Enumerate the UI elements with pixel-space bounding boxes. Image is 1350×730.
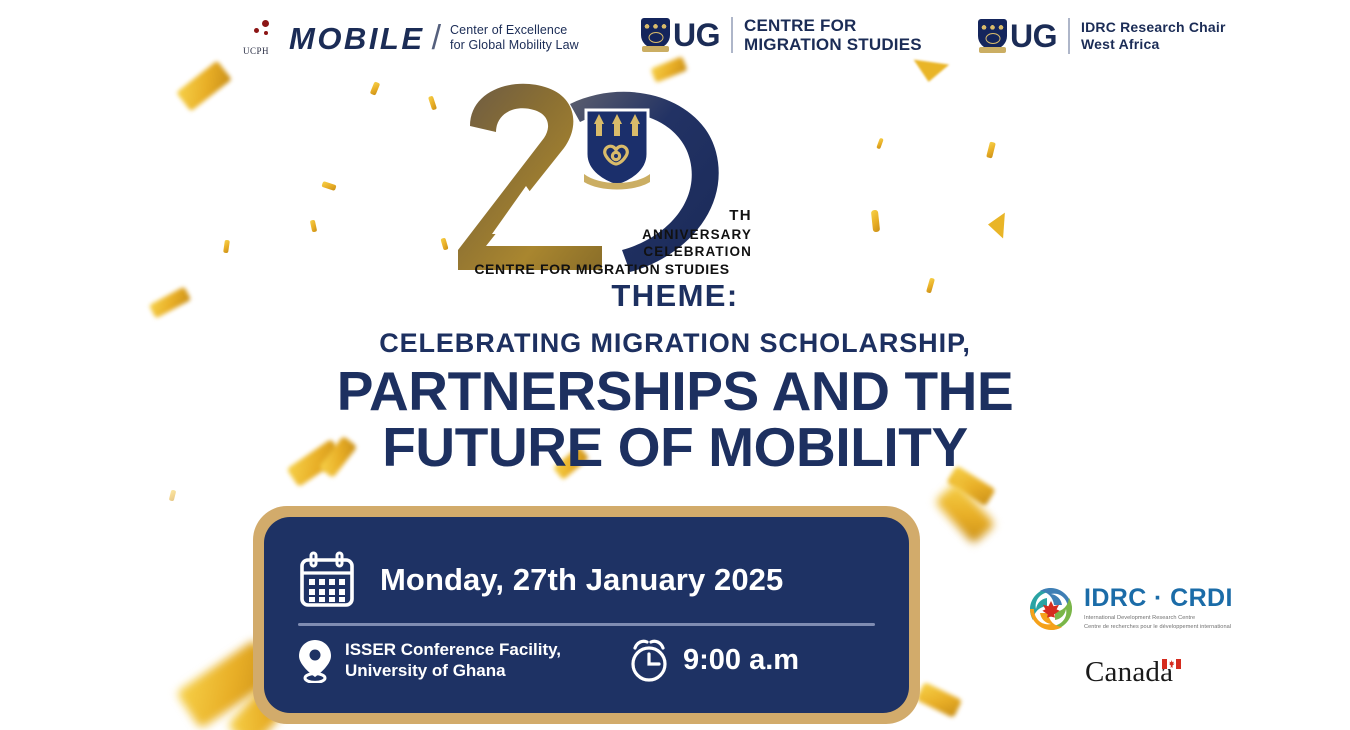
idrc-chair-name-line1: IDRC Research Chair — [1081, 19, 1226, 36]
idrc-logo-row: IDRC · CRDI International Development Re… — [1028, 586, 1233, 632]
anniversary-caption: TH ANNIVERSARY CELEBRATION CENTRE FOR MI… — [452, 206, 752, 279]
ug-crest-icon — [580, 106, 654, 190]
confetti-piece — [871, 210, 880, 233]
confetti-piece — [310, 220, 317, 233]
celebration-word: CELEBRATION — [452, 243, 752, 260]
cms-name-line1: CENTRE FOR — [744, 16, 922, 35]
event-date: Monday, 27th January 2025 — [380, 562, 783, 598]
logo-separator: / — [432, 21, 441, 55]
confetti-piece — [321, 181, 336, 191]
mobile-tagline-line2: for Global Mobility Law — [450, 38, 579, 53]
confetti-piece — [934, 481, 995, 544]
mobile-tagline: Center of Excellence for Global Mobility… — [450, 23, 579, 54]
anniversary-lockup: TH ANNIVERSARY CELEBRATION CENTRE FOR MI… — [452, 74, 752, 279]
idrc-tagline-fr: Centre de recherches pour le développeme… — [1084, 623, 1233, 632]
theme-section: THEME: CELEBRATING MIGRATION SCHOLARSHIP… — [0, 280, 1350, 475]
ucph-abbr: UCPH — [243, 46, 269, 56]
date-row: Monday, 27th January 2025 — [298, 551, 875, 621]
event-time: 9:00 a.m — [683, 644, 799, 677]
idrc-name: IDRC · CRDI — [1084, 586, 1233, 611]
venue-block: ISSER Conference Facility, University of… — [298, 639, 628, 683]
confetti-piece — [986, 142, 996, 159]
theme-kicker: THEME: — [0, 280, 1350, 311]
ug-wordmark: UG — [673, 19, 720, 51]
theme-line-2: PARTNERSHIPS AND THE — [0, 363, 1350, 419]
logo-ug-centre-for-migration-studies: UG CENTRE FOR MIGRATION STUDIES — [641, 16, 922, 54]
ucph-mark-icon: UCPH — [243, 18, 285, 58]
logo-divider — [1068, 18, 1070, 54]
card-divider — [298, 623, 875, 626]
event-details-card: Monday, 27th January 2025 ISSER Conferen… — [253, 506, 920, 724]
event-poster: UCPH MOBILE / Center of Excellence for G… — [0, 0, 1350, 730]
calendar-icon — [298, 551, 356, 609]
idrc-text-block: IDRC · CRDI International Development Re… — [1084, 586, 1233, 631]
time-block: 9:00 a.m — [628, 638, 799, 684]
theme-line-1: CELEBRATING MIGRATION SCHOLARSHIP, — [0, 330, 1350, 357]
idrc-tagline-en: International Development Research Centr… — [1084, 614, 1233, 623]
canada-flag-icon — [1162, 659, 1181, 669]
cms-name: CENTRE FOR MIGRATION STUDIES — [744, 16, 922, 54]
logo-mobile-ucph: UCPH MOBILE / Center of Excellence for G… — [243, 18, 579, 58]
confetti-piece — [223, 240, 230, 254]
anniversary-word: ANNIVERSARY — [452, 226, 752, 243]
confetti-piece — [876, 138, 884, 150]
confetti-piece — [916, 682, 963, 718]
sponsor-idrc-logo: IDRC · CRDI International Development Re… — [1028, 586, 1233, 632]
confetti-piece — [169, 490, 177, 502]
mobile-tagline-line1: Center of Excellence — [450, 23, 579, 38]
logo-ug-idrc-research-chair: UG IDRC Research Chair West Africa — [978, 18, 1226, 54]
canada-text: Canada — [1085, 658, 1173, 687]
confetti-piece — [428, 96, 437, 111]
mobile-wordmark: MOBILE — [289, 23, 425, 54]
idrc-mark-icon — [1028, 586, 1074, 632]
alarm-clock-icon — [628, 638, 670, 684]
idrc-chair-name-line2: West Africa — [1081, 36, 1226, 53]
idrc-tagline: International Development Research Centr… — [1084, 614, 1233, 631]
theme-line-3: FUTURE OF MOBILITY — [0, 419, 1350, 475]
venue-line-2: University of Ghana — [345, 661, 561, 682]
ug-crest-icon — [641, 18, 670, 52]
anniversary-org-name: CENTRE FOR MIGRATION STUDIES — [452, 261, 752, 279]
confetti-piece — [987, 211, 1005, 238]
location-pin-icon — [298, 639, 332, 683]
ug-crest-icon — [978, 19, 1007, 53]
confetti-piece — [370, 81, 380, 95]
canada-wordmark: Canada — [1085, 658, 1181, 687]
ug-wordmark: UG — [1010, 20, 1057, 52]
confetti-piece — [440, 238, 448, 251]
venue-time-row: ISSER Conference Facility, University of… — [298, 638, 875, 684]
confetti-piece — [176, 61, 232, 112]
idrc-chair-name: IDRC Research Chair West Africa — [1081, 19, 1226, 53]
logo-divider — [731, 17, 733, 53]
cms-name-line2: MIGRATION STUDIES — [744, 35, 922, 54]
header-logo-bar: UCPH MOBILE / Center of Excellence for G… — [0, 10, 1350, 68]
venue-line-1: ISSER Conference Facility, — [345, 640, 561, 661]
anniversary-ordinal: TH — [452, 206, 752, 225]
event-details-inner: Monday, 27th January 2025 ISSER Conferen… — [264, 517, 909, 713]
venue-text: ISSER Conference Facility, University of… — [345, 640, 561, 681]
